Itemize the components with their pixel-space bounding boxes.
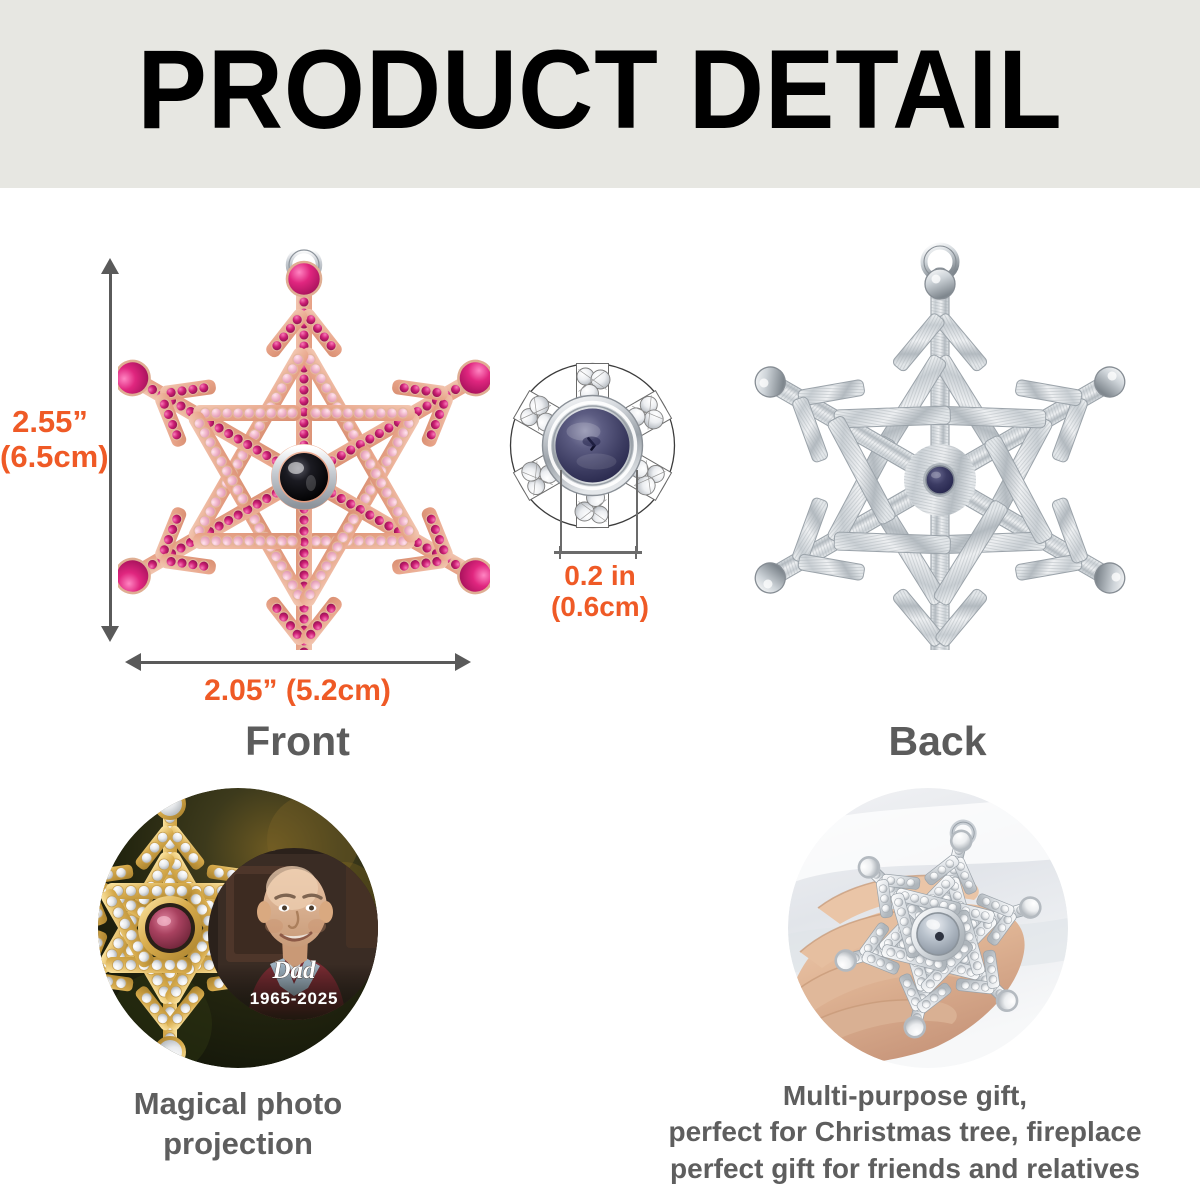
projection-photo-svg: Dad 1965-2025 xyxy=(98,788,378,1068)
back-view-label: Back xyxy=(800,718,1075,765)
back-snowflake-svg xyxy=(754,232,1126,650)
left-caption-line1: Magical photo xyxy=(58,1084,418,1124)
projection-name-text: Dad xyxy=(271,957,316,984)
lens-cm: (0.6cm) xyxy=(505,591,695,622)
width-dimension-label: 2.05” (5.2cm) xyxy=(160,674,435,708)
lens-macro-view xyxy=(505,358,680,533)
hand-photo-svg xyxy=(788,788,1068,1068)
right-caption: Multi-purpose gift, perfect for Christma… xyxy=(640,1078,1170,1187)
right-caption-line1: Multi-purpose gift, xyxy=(640,1078,1170,1114)
front-snowflake-svg xyxy=(118,232,490,650)
lens-dimension-label: 0.2 in (0.6cm) xyxy=(505,560,695,623)
back-product-view xyxy=(754,232,1126,650)
lens-inches: 0.2 in xyxy=(505,560,695,591)
front-product-view xyxy=(118,232,490,650)
hand-holding-photo-circle xyxy=(788,788,1068,1068)
page-title: PRODUCT DETAIL xyxy=(42,34,1158,146)
left-caption-line2: projection xyxy=(58,1124,418,1164)
lens-macro-svg xyxy=(505,358,680,533)
height-cm: (6.5cm) xyxy=(0,440,100,475)
height-dimension-label: 2.55” (6.5cm) xyxy=(0,405,100,474)
product-detail-page: PRODUCT DETAIL xyxy=(0,0,1200,1200)
front-view-label: Front xyxy=(160,718,435,765)
right-caption-line3: perfect gift for friends and relatives xyxy=(640,1151,1170,1187)
height-inches: 2.55” xyxy=(0,405,100,440)
projection-photo-circle: Dad 1965-2025 xyxy=(98,788,378,1068)
projection-years-text: 1965-2025 xyxy=(250,989,339,1008)
left-caption: Magical photo projection xyxy=(58,1084,418,1165)
right-caption-line2: perfect for Christmas tree, fireplace xyxy=(640,1114,1170,1150)
